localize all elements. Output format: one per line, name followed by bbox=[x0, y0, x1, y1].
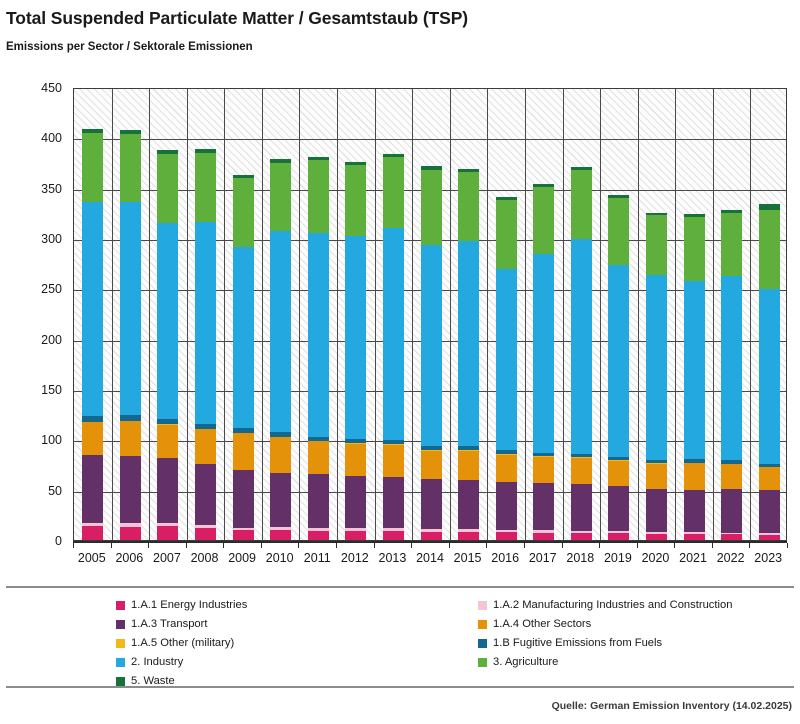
y-tick-label: 100 bbox=[0, 434, 62, 447]
bar-group[interactable] bbox=[759, 204, 780, 540]
bar-segment[interactable] bbox=[233, 178, 254, 247]
gridline-vertical bbox=[262, 89, 263, 540]
bar-segment[interactable] bbox=[195, 528, 216, 540]
bar-segment[interactable] bbox=[120, 134, 141, 202]
legend-item[interactable]: 5. Waste bbox=[116, 672, 247, 691]
legend-swatch-icon bbox=[116, 677, 125, 686]
bar-segment[interactable] bbox=[533, 533, 554, 540]
bar-segment[interactable] bbox=[195, 525, 216, 528]
bar-segment[interactable] bbox=[684, 534, 705, 540]
legend-swatch-icon bbox=[116, 639, 125, 648]
bar-segment[interactable] bbox=[646, 534, 667, 540]
gridline-vertical bbox=[450, 89, 451, 540]
bar-segment[interactable] bbox=[571, 484, 592, 531]
chart-subtitle: Emissions per Sector / Sektorale Emissio… bbox=[6, 41, 253, 53]
bar-segment[interactable] bbox=[646, 532, 667, 534]
bar-segment[interactable] bbox=[721, 534, 742, 540]
legend-item[interactable]: 2. Industry bbox=[116, 653, 247, 672]
bar-segment[interactable] bbox=[458, 241, 479, 446]
bar-segment[interactable] bbox=[82, 422, 103, 455]
bar-segment[interactable] bbox=[233, 428, 254, 433]
bar-segment[interactable] bbox=[195, 222, 216, 423]
y-tick-label: 200 bbox=[0, 334, 62, 347]
gridline-vertical bbox=[112, 89, 113, 540]
legend-swatch-icon bbox=[116, 658, 125, 667]
legend-column-right: 1.A.2 Manufacturing Industries and Const… bbox=[478, 596, 732, 672]
legend-label: 1.A.3 Transport bbox=[131, 619, 208, 630]
bar-segment[interactable] bbox=[421, 479, 442, 529]
bar-segment[interactable] bbox=[157, 223, 178, 419]
gridline-horizontal bbox=[74, 139, 786, 140]
bar-segment[interactable] bbox=[270, 231, 291, 432]
y-tick-label: 450 bbox=[0, 82, 62, 95]
source-note: Quelle: German Emission Inventory (14.02… bbox=[552, 700, 792, 712]
bar-segment[interactable] bbox=[120, 421, 141, 456]
bar-segment[interactable] bbox=[533, 184, 554, 187]
bar-segment[interactable] bbox=[608, 265, 629, 457]
legend-item[interactable]: 1.A.5 Other (military) bbox=[116, 634, 247, 653]
x-tick-mark bbox=[524, 543, 525, 548]
bar-segment[interactable] bbox=[82, 416, 103, 422]
bar-segment[interactable] bbox=[120, 415, 141, 421]
bar-segment[interactable] bbox=[82, 129, 103, 133]
bar-segment[interactable] bbox=[458, 529, 479, 531]
x-tick-mark bbox=[749, 543, 750, 548]
x-tick-mark bbox=[186, 543, 187, 548]
x-tick-mark bbox=[111, 543, 112, 548]
legend-divider-bottom bbox=[6, 686, 794, 688]
bar-segment[interactable] bbox=[684, 463, 705, 490]
bar-segment[interactable] bbox=[308, 474, 329, 528]
bar-segment[interactable] bbox=[721, 276, 742, 461]
bar-group[interactable] bbox=[345, 162, 366, 540]
bar-segment[interactable] bbox=[496, 454, 517, 482]
bar-segment[interactable] bbox=[608, 198, 629, 265]
bar-segment[interactable] bbox=[383, 528, 404, 531]
bar-group[interactable] bbox=[195, 149, 216, 540]
bar-group[interactable] bbox=[270, 159, 291, 540]
bar-group[interactable] bbox=[421, 166, 442, 540]
bar-segment[interactable] bbox=[345, 165, 366, 235]
bar-segment[interactable] bbox=[571, 239, 592, 454]
bar-segment[interactable] bbox=[458, 446, 479, 450]
bar-group[interactable] bbox=[82, 129, 103, 540]
bar-segment[interactable] bbox=[195, 429, 216, 463]
bar-segment[interactable] bbox=[721, 533, 742, 535]
bar-segment[interactable] bbox=[759, 535, 780, 540]
bar-segment[interactable] bbox=[684, 459, 705, 462]
legend-swatch-icon bbox=[478, 639, 487, 648]
bar-segment[interactable] bbox=[308, 157, 329, 161]
bar-segment[interactable] bbox=[233, 433, 254, 470]
bar-segment[interactable] bbox=[421, 446, 442, 450]
bar-segment[interactable] bbox=[82, 133, 103, 201]
bar-segment[interactable] bbox=[759, 533, 780, 535]
bar-segment[interactable] bbox=[421, 532, 442, 540]
gridline-vertical bbox=[187, 89, 188, 540]
bar-segment[interactable] bbox=[721, 489, 742, 532]
bar-group[interactable] bbox=[571, 167, 592, 540]
bar-segment[interactable] bbox=[82, 523, 103, 526]
bar-segment[interactable] bbox=[458, 169, 479, 172]
bar-segment[interactable] bbox=[496, 532, 517, 540]
bar-segment[interactable] bbox=[270, 473, 291, 527]
bar-segment[interactable] bbox=[684, 217, 705, 281]
bar-segment[interactable] bbox=[458, 532, 479, 540]
y-tick-label: 250 bbox=[0, 283, 62, 296]
bar-segment[interactable] bbox=[608, 461, 629, 486]
bar-segment[interactable] bbox=[82, 202, 103, 416]
gridline-vertical bbox=[299, 89, 300, 540]
bar-group[interactable] bbox=[496, 197, 517, 540]
bar-segment[interactable] bbox=[120, 130, 141, 134]
legend-swatch-icon bbox=[478, 620, 487, 629]
bar-segment[interactable] bbox=[496, 200, 517, 269]
bar-segment[interactable] bbox=[684, 490, 705, 532]
bar-segment[interactable] bbox=[608, 486, 629, 531]
bar-segment[interactable] bbox=[383, 440, 404, 444]
gridline-vertical bbox=[563, 89, 564, 540]
bar-segment[interactable] bbox=[308, 160, 329, 233]
bar-segment[interactable] bbox=[195, 149, 216, 153]
gridline-vertical bbox=[375, 89, 376, 540]
bar-segment[interactable] bbox=[646, 213, 667, 216]
x-tick-mark bbox=[562, 543, 563, 548]
bar-segment[interactable] bbox=[496, 269, 517, 450]
bar-segment[interactable] bbox=[120, 527, 141, 540]
bar-group[interactable] bbox=[308, 157, 329, 540]
bar-segment[interactable] bbox=[608, 533, 629, 540]
bar-segment[interactable] bbox=[308, 233, 329, 436]
bar-segment[interactable] bbox=[496, 530, 517, 532]
x-tick-mark bbox=[374, 543, 375, 548]
bar-segment[interactable] bbox=[533, 456, 554, 483]
x-tick-mark bbox=[599, 543, 600, 548]
bar-segment[interactable] bbox=[120, 523, 141, 526]
bar-segment[interactable] bbox=[533, 453, 554, 457]
legend-label: 1.A.1 Energy Industries bbox=[131, 600, 247, 611]
bar-segment[interactable] bbox=[721, 460, 742, 463]
x-tick-mark bbox=[73, 543, 74, 548]
bar-group[interactable] bbox=[721, 210, 742, 540]
bar-segment[interactable] bbox=[157, 458, 178, 523]
gridline-vertical bbox=[750, 89, 751, 540]
gridline-vertical bbox=[224, 89, 225, 540]
bar-segment[interactable] bbox=[421, 166, 442, 169]
bar-segment[interactable] bbox=[571, 531, 592, 533]
legend-label: 3. Agriculture bbox=[493, 657, 558, 668]
bar-segment[interactable] bbox=[345, 531, 366, 540]
bar-segment[interactable] bbox=[345, 236, 366, 439]
bar-segment[interactable] bbox=[157, 526, 178, 540]
x-tick-label: 2023 bbox=[746, 552, 790, 565]
bar-segment[interactable] bbox=[533, 254, 554, 453]
bar-segment[interactable] bbox=[270, 163, 291, 232]
bar-group[interactable] bbox=[458, 169, 479, 540]
gridline-vertical bbox=[149, 89, 150, 540]
bar-segment[interactable] bbox=[421, 170, 442, 245]
legend-label: 1.A.4 Other Sectors bbox=[493, 619, 591, 630]
bar-group[interactable] bbox=[646, 213, 667, 540]
bar-segment[interactable] bbox=[157, 523, 178, 526]
bar-segment[interactable] bbox=[646, 215, 667, 275]
bar-segment[interactable] bbox=[383, 228, 404, 440]
bar-segment[interactable] bbox=[270, 159, 291, 163]
gridline-vertical bbox=[412, 89, 413, 540]
legend-label: 1.A.2 Manufacturing Industries and Const… bbox=[493, 600, 732, 611]
legend-item[interactable]: 3. Agriculture bbox=[478, 653, 732, 672]
legend-item[interactable]: 1.B Fugitive Emissions from Fuels bbox=[478, 634, 732, 653]
bar-segment[interactable] bbox=[684, 281, 705, 459]
bar-group[interactable] bbox=[533, 184, 554, 540]
bar-segment[interactable] bbox=[608, 195, 629, 198]
bar-segment[interactable] bbox=[684, 214, 705, 217]
bar-group[interactable] bbox=[233, 174, 254, 540]
y-tick-label: 150 bbox=[0, 384, 62, 397]
bar-segment[interactable] bbox=[571, 457, 592, 484]
bar-segment[interactable] bbox=[421, 245, 442, 446]
bar-segment[interactable] bbox=[383, 444, 404, 477]
bar-segment[interactable] bbox=[345, 528, 366, 531]
bar-segment[interactable] bbox=[458, 450, 479, 480]
bar-segment[interactable] bbox=[233, 175, 254, 179]
x-tick-mark bbox=[298, 543, 299, 548]
bar-segment[interactable] bbox=[345, 162, 366, 165]
bar-segment[interactable] bbox=[82, 455, 103, 523]
x-tick-mark bbox=[223, 543, 224, 548]
bar-segment[interactable] bbox=[721, 213, 742, 276]
bar-segment[interactable] bbox=[571, 170, 592, 238]
legend-label: 1.A.5 Other (military) bbox=[131, 638, 234, 649]
bar-group[interactable] bbox=[684, 214, 705, 540]
x-tick-mark bbox=[486, 543, 487, 548]
gridline-vertical bbox=[638, 89, 639, 540]
bar-segment[interactable] bbox=[195, 153, 216, 222]
bar-segment[interactable] bbox=[345, 476, 366, 528]
plot-area bbox=[73, 88, 787, 541]
bar-segment[interactable] bbox=[759, 289, 780, 464]
y-tick-label: 350 bbox=[0, 183, 62, 196]
x-tick-mark bbox=[449, 543, 450, 548]
bar-segment[interactable] bbox=[533, 530, 554, 532]
bar-segment[interactable] bbox=[458, 480, 479, 529]
bar-segment[interactable] bbox=[120, 202, 141, 415]
bar-group[interactable] bbox=[120, 130, 141, 540]
bar-segment[interactable] bbox=[308, 531, 329, 540]
bar-segment[interactable] bbox=[157, 419, 178, 424]
bar-segment[interactable] bbox=[157, 425, 178, 459]
bar-segment[interactable] bbox=[308, 437, 329, 441]
legend-label: 2. Industry bbox=[131, 657, 183, 668]
bar-segment[interactable] bbox=[345, 439, 366, 443]
bar-segment[interactable] bbox=[646, 463, 667, 488]
legend-item[interactable]: 1.A.3 Transport bbox=[116, 615, 247, 634]
legend-column-left: 1.A.1 Energy Industries1.A.3 Transport1.… bbox=[116, 596, 247, 691]
legend-label: 1.B Fugitive Emissions from Fuels bbox=[493, 638, 662, 649]
x-tick-mark bbox=[712, 543, 713, 548]
legend-item[interactable]: 1.A.1 Energy Industries bbox=[116, 596, 247, 615]
y-tick-label: 0 bbox=[0, 535, 62, 548]
bar-segment[interactable] bbox=[721, 210, 742, 213]
bar-segment[interactable] bbox=[120, 456, 141, 523]
x-tick-mark bbox=[148, 543, 149, 548]
bar-group[interactable] bbox=[383, 154, 404, 540]
legend-swatch-icon bbox=[116, 620, 125, 629]
x-tick-mark bbox=[637, 543, 638, 548]
bar-segment[interactable] bbox=[421, 450, 442, 479]
gridline-vertical bbox=[600, 89, 601, 540]
bar-segment[interactable] bbox=[759, 467, 780, 490]
legend: 1.A.1 Energy Industries1.A.3 Transport1.… bbox=[6, 596, 794, 682]
bar-segment[interactable] bbox=[233, 247, 254, 428]
chart-page: Total Suspended Particulate Matter / Ges… bbox=[0, 0, 800, 724]
x-tick-mark bbox=[787, 543, 788, 548]
bar-segment[interactable] bbox=[496, 482, 517, 530]
bar-group[interactable] bbox=[608, 195, 629, 540]
y-tick-label: 300 bbox=[0, 233, 62, 246]
page-title: Total Suspended Particulate Matter / Ges… bbox=[6, 8, 468, 29]
bar-group[interactable] bbox=[157, 150, 178, 540]
gridline-vertical bbox=[675, 89, 676, 540]
legend-item[interactable]: 1.A.4 Other Sectors bbox=[478, 615, 732, 634]
x-axis-line bbox=[73, 541, 787, 543]
legend-item[interactable]: 1.A.2 Manufacturing Industries and Const… bbox=[478, 596, 732, 615]
bar-segment[interactable] bbox=[233, 530, 254, 540]
bar-segment[interactable] bbox=[458, 172, 479, 241]
gridline-vertical bbox=[525, 89, 526, 540]
bar-segment[interactable] bbox=[759, 204, 780, 210]
legend-swatch-icon bbox=[116, 601, 125, 610]
bar-segment[interactable] bbox=[684, 532, 705, 534]
bar-segment[interactable] bbox=[308, 441, 329, 474]
x-tick-mark bbox=[411, 543, 412, 548]
bar-segment[interactable] bbox=[759, 464, 780, 467]
y-tick-label: 400 bbox=[0, 132, 62, 145]
bar-segment[interactable] bbox=[571, 167, 592, 170]
legend-swatch-icon bbox=[478, 601, 487, 610]
bar-segment[interactable] bbox=[157, 154, 178, 223]
bar-segment[interactable] bbox=[270, 530, 291, 540]
gridline-vertical bbox=[337, 89, 338, 540]
bar-segment[interactable] bbox=[496, 197, 517, 200]
bar-segment[interactable] bbox=[383, 154, 404, 157]
bar-segment[interactable] bbox=[608, 531, 629, 533]
bar-segment[interactable] bbox=[533, 483, 554, 530]
bar-segment[interactable] bbox=[759, 210, 780, 289]
bar-segment[interactable] bbox=[421, 529, 442, 531]
x-tick-mark bbox=[261, 543, 262, 548]
bar-segment[interactable] bbox=[496, 450, 517, 454]
bar-segment[interactable] bbox=[571, 533, 592, 540]
bar-segment[interactable] bbox=[646, 489, 667, 533]
gridline-vertical bbox=[713, 89, 714, 540]
bar-segment[interactable] bbox=[270, 432, 291, 437]
legend-swatch-icon bbox=[478, 658, 487, 667]
bar-segment[interactable] bbox=[82, 526, 103, 540]
bar-segment[interactable] bbox=[308, 528, 329, 531]
bar-segment[interactable] bbox=[721, 464, 742, 489]
bar-segment[interactable] bbox=[383, 477, 404, 528]
bar-segment[interactable] bbox=[646, 275, 667, 460]
bar-segment[interactable] bbox=[345, 443, 366, 476]
bar-segment[interactable] bbox=[195, 464, 216, 526]
x-tick-mark bbox=[336, 543, 337, 548]
bar-segment[interactable] bbox=[383, 531, 404, 540]
y-tick-label: 50 bbox=[0, 485, 62, 498]
bar-segment[interactable] bbox=[759, 490, 780, 533]
bar-segment[interactable] bbox=[533, 187, 554, 253]
bar-segment[interactable] bbox=[571, 454, 592, 458]
bar-segment[interactable] bbox=[270, 527, 291, 530]
bar-segment[interactable] bbox=[233, 528, 254, 531]
bar-segment[interactable] bbox=[383, 157, 404, 227]
bar-segment[interactable] bbox=[157, 150, 178, 154]
x-tick-mark bbox=[674, 543, 675, 548]
gridline-vertical bbox=[487, 89, 488, 540]
legend-divider-top bbox=[6, 586, 794, 588]
bar-segment[interactable] bbox=[270, 437, 291, 473]
bar-segment[interactable] bbox=[608, 457, 629, 460]
bar-segment[interactable] bbox=[646, 460, 667, 463]
bar-segment[interactable] bbox=[233, 470, 254, 528]
bar-segment[interactable] bbox=[195, 424, 216, 429]
